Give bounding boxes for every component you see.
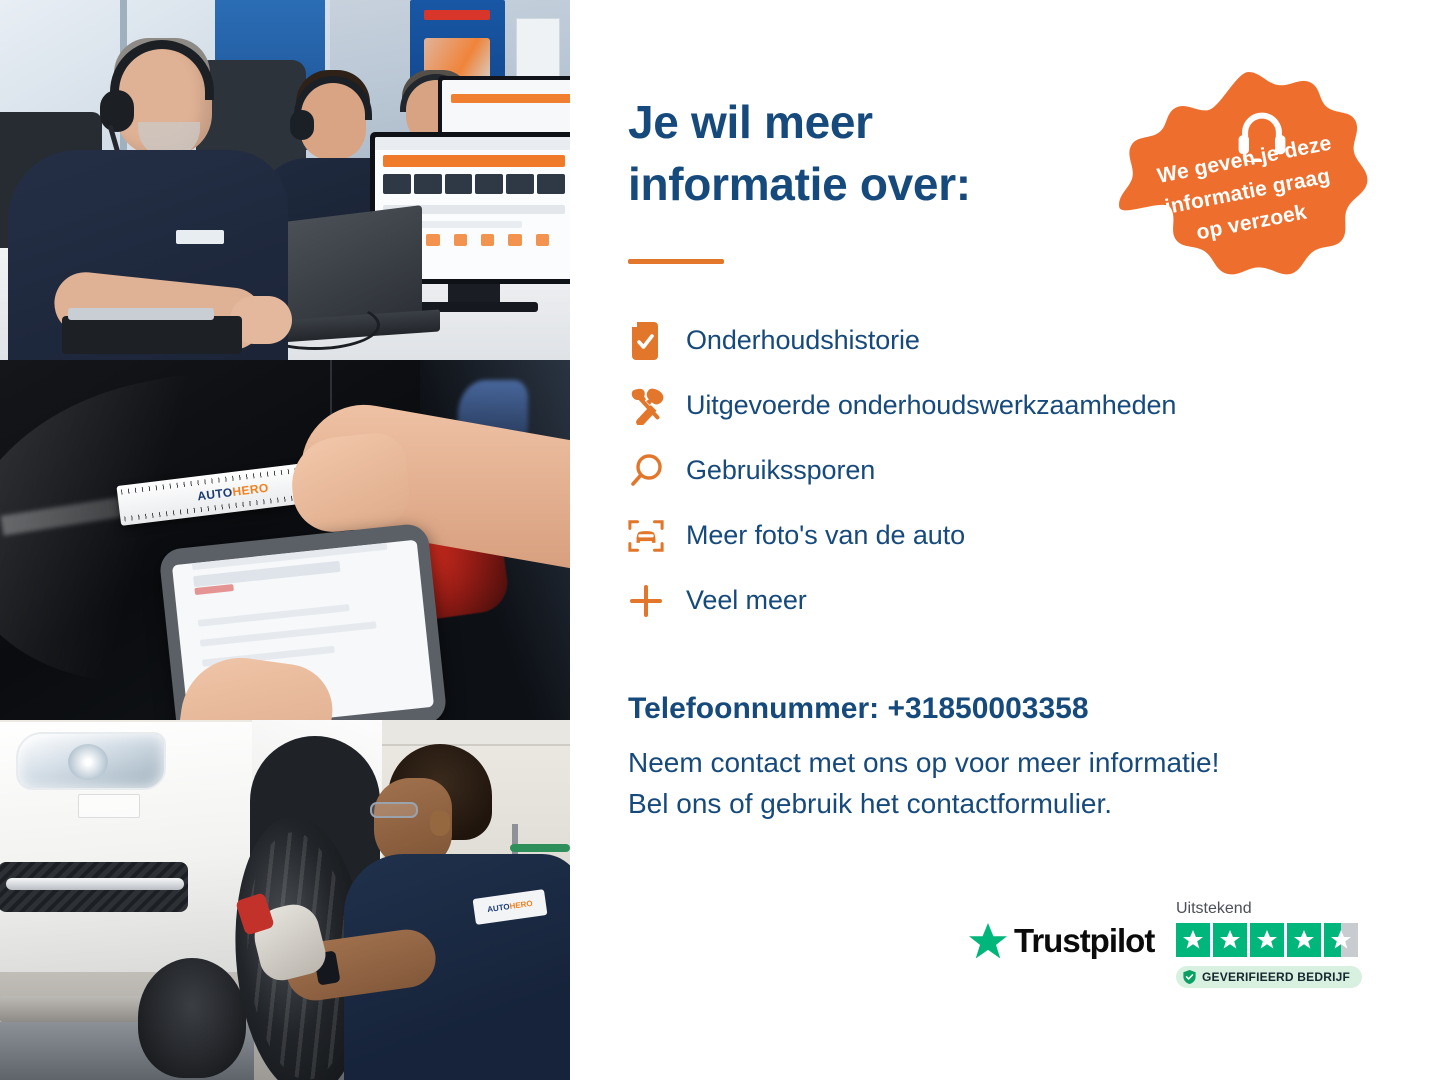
contact-copy: Neem contact met ons op voor meer inform…	[628, 742, 1219, 824]
list-item-label: Uitgevoerde onderhoudswerkzaamheden	[686, 390, 1176, 421]
star-filled	[1250, 923, 1284, 957]
document-check-icon	[628, 322, 686, 360]
ruler-brand-primary: AUTO	[197, 485, 234, 503]
headline-line-2: informatie over:	[628, 154, 1098, 216]
trustpilot-rating-block: Uitstekend	[1176, 900, 1368, 989]
verified-label: GEVERIFIEERD BEDRIJF	[1202, 970, 1350, 984]
rating-label: Uitstekend	[1176, 900, 1368, 918]
promo-page: AUTOHERO	[0, 0, 1440, 1080]
ruler-brand-secondary: HERO	[232, 481, 270, 499]
trustpilot-widget: Trustpilot Uitstekend	[968, 900, 1368, 1012]
trustpilot-logo: Trustpilot	[968, 922, 1154, 960]
content-panel: Je wil meer informatie over: We geven je…	[570, 0, 1440, 1080]
tools-icon	[628, 387, 686, 425]
star-half	[1324, 923, 1358, 957]
wall-document	[516, 18, 560, 80]
request-info-badge: We geven je deze informatie graag op ver…	[1110, 68, 1387, 332]
phone-number: Telefoonnummer: +31850003358	[628, 692, 1089, 726]
call-centre-agents-photo	[0, 0, 570, 360]
headline-line-1: Je wil meer	[628, 92, 1098, 154]
feature-list: Onderhoudshistorie Uitgevoerde onderhoud…	[628, 308, 1388, 633]
magnifier-icon	[628, 453, 686, 489]
trustpilot-star-icon	[968, 922, 1008, 960]
mechanic-wheel-photo: AUTOHERO	[0, 720, 570, 1080]
star-filled	[1176, 923, 1210, 957]
car-scan-icon	[628, 518, 686, 554]
star-filled	[1213, 923, 1247, 957]
photo-column: AUTOHERO	[0, 0, 570, 1080]
desk-tablet	[62, 316, 242, 354]
verified-business-badge: GEVERIFIEERD BEDRIJF	[1176, 966, 1362, 988]
list-item-label: Onderhoudshistorie	[686, 325, 920, 356]
list-item-label: Veel meer	[686, 585, 807, 616]
plus-icon	[628, 583, 686, 619]
list-item: Veel meer	[628, 568, 1388, 633]
page-title: Je wil meer informatie over:	[628, 92, 1098, 215]
shield-check-icon	[1183, 970, 1196, 984]
contact-copy-line-1: Neem contact met ons op voor meer inform…	[628, 742, 1219, 783]
trustpilot-wordmark: Trustpilot	[1014, 922, 1154, 960]
list-item: Uitgevoerde onderhoudswerkzaamheden	[628, 373, 1388, 438]
list-item: Onderhoudshistorie	[628, 308, 1388, 373]
list-item: Meer foto's van de auto	[628, 503, 1388, 568]
star-rating	[1176, 923, 1368, 957]
mechanic: AUTOHERO	[352, 744, 570, 1080]
contact-copy-line-2: Bel ons of gebruik het contactformulier.	[628, 783, 1219, 824]
list-item-label: Gebruikssporen	[686, 455, 875, 486]
list-item-label: Meer foto's van de auto	[686, 520, 965, 551]
rear-tyre	[138, 958, 246, 1078]
title-underline-rule	[628, 259, 724, 264]
list-item: Gebruikssporen	[628, 438, 1388, 503]
star-filled	[1287, 923, 1321, 957]
vehicle-inspection-ruler-photo: AUTOHERO	[0, 360, 570, 720]
